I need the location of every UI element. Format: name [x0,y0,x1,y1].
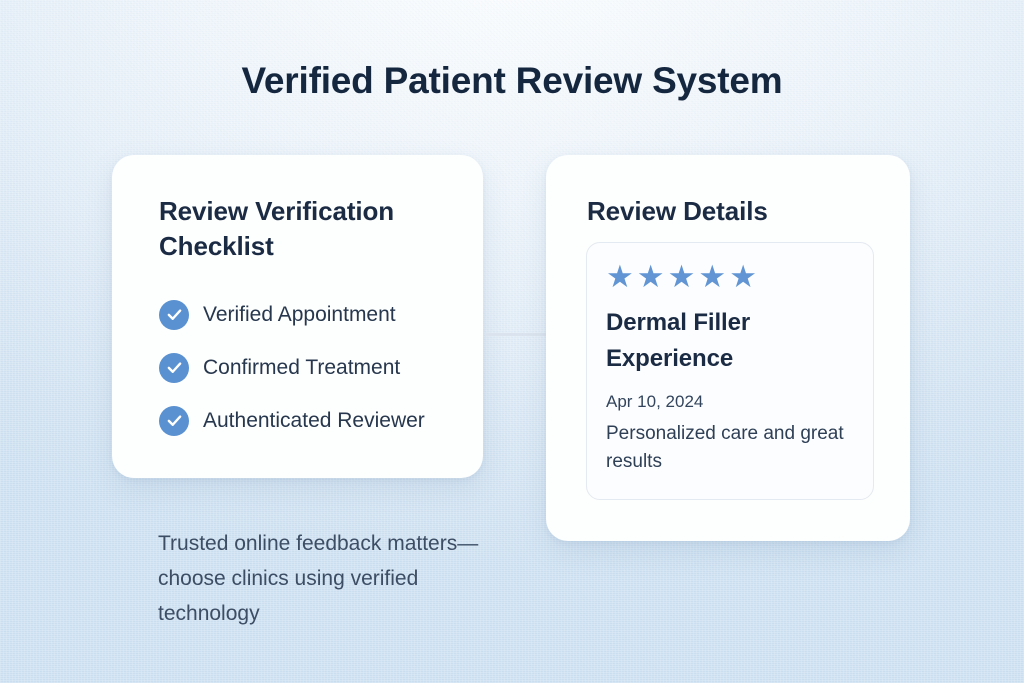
check-circle-icon [159,300,189,330]
review-details-card: Review Details ★ ★ ★ ★ ★ Dermal Filler E… [546,155,910,541]
checklist-item[interactable]: Confirmed Treatment [159,341,459,394]
verification-checklist: Verified Appointment Confirmed Treatment… [159,288,459,447]
review-body: Personalized care and great results [606,420,856,476]
infographic-canvas: Verified Patient Review System Review Ve… [0,0,1024,683]
star-icon: ★ [668,261,696,292]
star-icon: ★ [698,261,726,292]
review-item-card[interactable]: ★ ★ ★ ★ ★ Dermal Filler Experience Apr 1… [586,242,874,500]
checklist-item[interactable]: Authenticated Reviewer [159,394,459,447]
checklist-card-heading: Review Verification Checklist [159,194,449,263]
star-icon: ★ [606,261,634,292]
check-circle-icon [159,406,189,436]
star-rating: ★ ★ ★ ★ ★ [606,261,757,292]
star-icon: ★ [729,261,757,292]
review-details-heading: Review Details [587,194,768,229]
star-icon: ★ [637,261,665,292]
checklist-item-label: Authenticated Reviewer [203,409,425,433]
checklist-card: Review Verification Checklist Verified A… [112,155,483,478]
checklist-item[interactable]: Verified Appointment [159,288,459,341]
checklist-item-label: Verified Appointment [203,303,396,327]
checklist-item-label: Confirmed Treatment [203,356,400,380]
page-caption: Trusted online feedback matters—choose c… [158,526,508,631]
review-title: Dermal Filler Experience [606,305,796,376]
review-date: Apr 10, 2024 [606,392,703,412]
page-title: Verified Patient Review System [0,60,1024,102]
check-circle-icon [159,353,189,383]
